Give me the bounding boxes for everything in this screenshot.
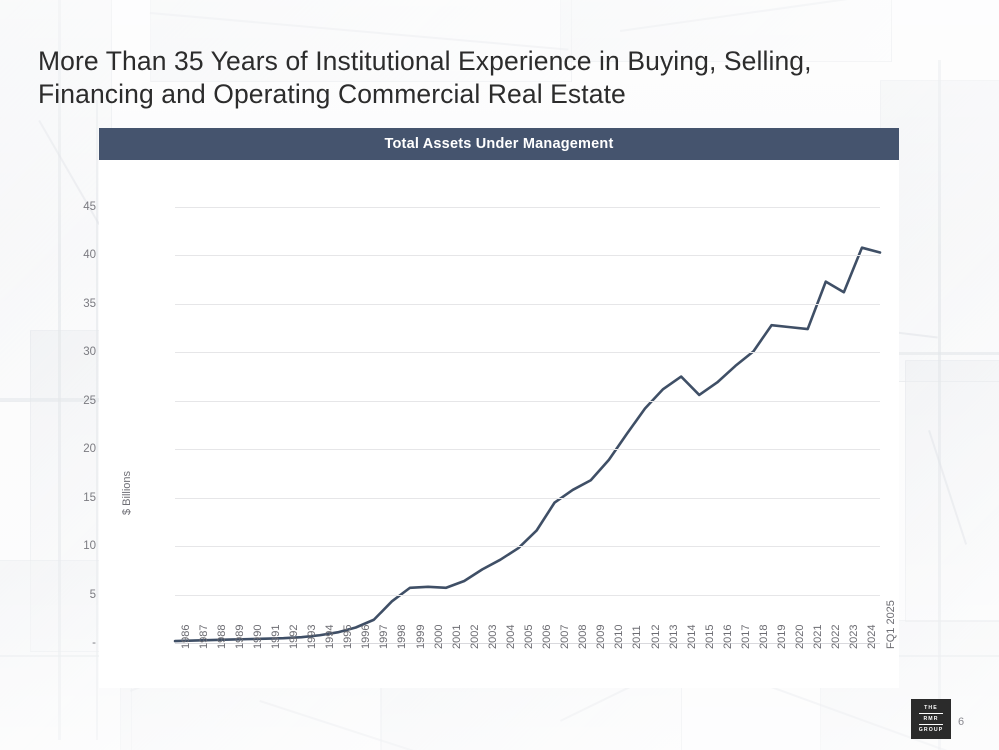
x-axis-tick-label: 2003 xyxy=(487,625,499,649)
x-axis-tick-label: 2022 xyxy=(830,625,842,649)
x-axis-tick-label: 2014 xyxy=(686,625,698,649)
x-axis-tick-label: 2013 xyxy=(668,625,680,649)
x-axis-tick-label: 1999 xyxy=(415,625,427,649)
logo-rule-top xyxy=(919,713,943,714)
y-axis-tick-label: 45 xyxy=(36,201,96,213)
x-axis-tick-label: 1993 xyxy=(306,625,318,649)
x-axis-tick-label: 1990 xyxy=(252,625,264,649)
gridline xyxy=(175,304,880,305)
gridline xyxy=(175,255,880,256)
logo-line-the: THE xyxy=(924,704,938,712)
x-axis-tick-label: 1986 xyxy=(180,625,192,649)
y-axis-tick-label: 15 xyxy=(36,492,96,504)
y-axis-tick-label: 25 xyxy=(36,395,96,407)
x-axis-tick-label: 2012 xyxy=(650,625,662,649)
y-axis-tick-label: 30 xyxy=(36,346,96,358)
x-axis-tick-label: 2016 xyxy=(722,625,734,649)
x-axis-tick-label: 2005 xyxy=(523,625,535,649)
gridline xyxy=(175,546,880,547)
x-axis-tick-label: FQ1 2025 xyxy=(885,600,897,649)
x-axis-tick-label: 1989 xyxy=(234,625,246,649)
x-axis-tick-label: 2002 xyxy=(469,625,481,649)
x-axis-tick-label: 1988 xyxy=(216,625,228,649)
y-axis-tick-label: 10 xyxy=(36,540,96,552)
x-axis-tick-label: 2008 xyxy=(577,625,589,649)
plot-area: -51015202530354045 xyxy=(175,207,880,643)
x-axis-tick-label: 2000 xyxy=(433,625,445,649)
gridline xyxy=(175,401,880,402)
y-axis-tick-label: 20 xyxy=(36,443,96,455)
chart-title-bar: Total Assets Under Management xyxy=(99,128,899,160)
x-axis-tick-label: 1995 xyxy=(342,625,354,649)
x-axis-tick-label: 2020 xyxy=(794,625,806,649)
chart-card: Total Assets Under Management $ Billions… xyxy=(99,128,899,688)
y-axis-title: $ Billions xyxy=(121,471,133,515)
y-axis-tick-label: - xyxy=(36,637,96,649)
x-axis-tick-label: 1994 xyxy=(324,625,336,649)
gridline xyxy=(175,449,880,450)
x-axis-tick-label: 2011 xyxy=(631,625,643,649)
logo-rule-bottom xyxy=(919,724,943,725)
x-axis-tick-label: 2010 xyxy=(613,625,625,649)
logo-line-rmr: RMR xyxy=(923,715,938,723)
x-axis-tick-label: 2006 xyxy=(541,625,553,649)
x-axis-tick-label: 2023 xyxy=(848,625,860,649)
x-axis-tick-label: 2024 xyxy=(866,625,878,649)
x-axis-tick-label: 2018 xyxy=(758,625,770,649)
y-axis-tick-label: 40 xyxy=(36,249,96,261)
x-axis-tick-label: 1998 xyxy=(396,625,408,649)
aum-line-series xyxy=(175,207,880,643)
x-axis-tick-label: 2001 xyxy=(451,625,463,649)
chart-body: $ Billions -51015202530354045 1986198719… xyxy=(99,160,899,688)
gridline xyxy=(175,595,880,596)
x-axis-tick-label: 2021 xyxy=(812,625,824,649)
logo-line-group: GROUP xyxy=(919,726,944,734)
page-number: 6 xyxy=(958,716,964,728)
x-axis-tick-label: 1996 xyxy=(360,625,372,649)
x-axis-tick-label: 1997 xyxy=(378,625,390,649)
x-axis-tick-label: 2004 xyxy=(505,625,517,649)
x-axis-tick-label: 2015 xyxy=(704,625,716,649)
x-axis-tick-label: 2019 xyxy=(776,625,788,649)
gridline xyxy=(175,498,880,499)
rmr-group-logo: THE RMR GROUP xyxy=(911,699,951,739)
y-axis-tick-label: 5 xyxy=(36,589,96,601)
y-axis-tick-label: 35 xyxy=(36,298,96,310)
page-title: More Than 35 Years of Institutional Expe… xyxy=(38,45,918,111)
gridline xyxy=(175,207,880,208)
x-axis-tick-label: 1992 xyxy=(288,625,300,649)
gridline xyxy=(175,352,880,353)
x-axis-tick-label: 1987 xyxy=(198,625,210,649)
x-axis-tick-label: 1991 xyxy=(270,625,282,649)
x-axis-tick-label: 2007 xyxy=(559,625,571,649)
x-axis-tick-label: 2017 xyxy=(740,625,752,649)
x-axis-tick-label: 2009 xyxy=(595,625,607,649)
